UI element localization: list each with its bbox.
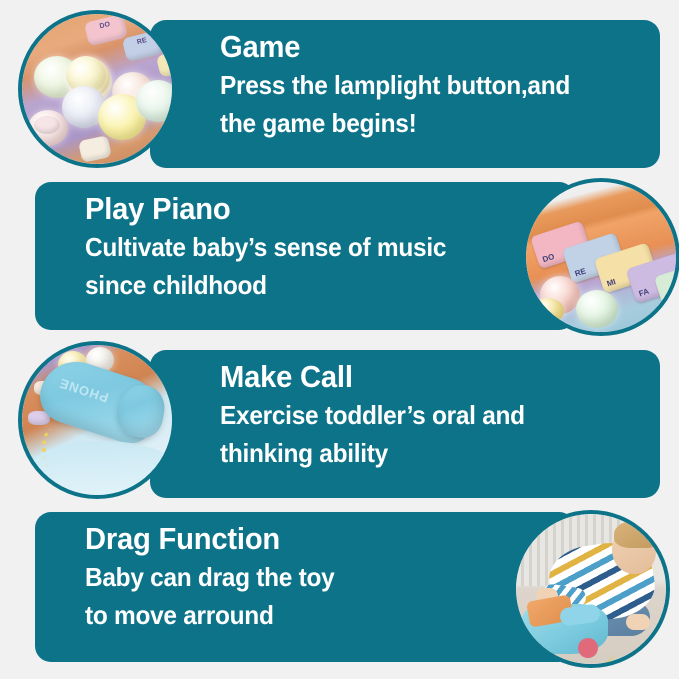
lamplight-game-buttons-photo: DO RE: [18, 10, 176, 168]
photo-inner-baby: [516, 514, 666, 664]
feature-title-play-piano: Play Piano: [85, 190, 508, 228]
pull-along-toy-cord: [570, 640, 614, 664]
feature-title-game: Game: [220, 28, 624, 66]
phone-base-shadow: [28, 441, 172, 495]
photo-inner-phone: PHONE: [22, 345, 172, 495]
feature-text-game: Game Press the lamplight button,and the …: [220, 28, 650, 142]
product-feature-infographic: Game Press the lamplight button,and the …: [0, 0, 679, 679]
photo-inner-piano: DO RE MI FA SOL: [526, 182, 676, 332]
feature-title-make-call: Make Call: [220, 358, 624, 396]
photo-inner-game: DO RE: [22, 14, 172, 164]
baby-dragging-toy-photo: [512, 510, 670, 668]
feature-title-drag-function: Drag Function: [85, 520, 508, 558]
feature-description-play-piano: Cultivate baby’s sense of music since ch…: [85, 228, 508, 304]
feature-text-drag-function: Drag Function Baby can drag the toy to m…: [85, 520, 535, 634]
baby-hand-right: [626, 614, 650, 630]
feature-description-make-call: Exercise toddler’s oral and thinking abi…: [220, 396, 624, 472]
feature-description-drag-function: Baby can drag the toy to move arround: [85, 558, 508, 634]
piano-dome-green: [576, 290, 618, 328]
feature-description-game: Press the lamplight button,and the game …: [220, 66, 624, 142]
game-sticker-character: [34, 116, 60, 134]
toy-phone-handset-photo: PHONE: [18, 341, 176, 499]
pull-along-toy-wheel-back: [526, 642, 542, 658]
feature-text-play-piano: Play Piano Cultivate baby’s sense of mus…: [85, 190, 535, 304]
piano-keys-photo: DO RE MI FA SOL: [522, 178, 679, 336]
baby-hair: [614, 520, 660, 548]
game-dome-8: [136, 80, 172, 122]
piano-dome-yellow: [532, 298, 564, 324]
feature-text-make-call: Make Call Exercise toddler’s oral and th…: [220, 358, 650, 472]
